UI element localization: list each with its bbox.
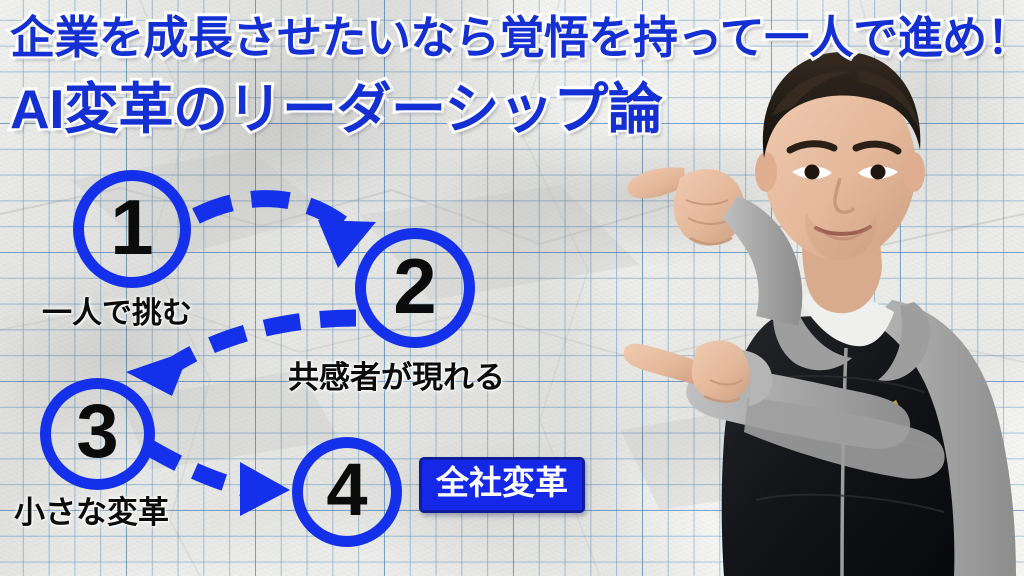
step-circle-4: 4 (292, 437, 402, 547)
step-circle-1: 1 (73, 170, 191, 288)
step-circle-3: 3 (40, 378, 155, 490)
step-label-3: 小さな変革 (14, 487, 169, 532)
badge-company-wide-transformation: 全社変革 (419, 457, 585, 513)
arrow-1-to-2 (196, 199, 376, 268)
step-circle-2: 2 (355, 228, 475, 348)
thumbnail-canvas: 企業を成長させたいなら覚悟を持って一人で進め！ AI変革のリーダーシップ論 1 … (0, 0, 1024, 576)
step-label-2: 共感者が現れる (288, 352, 505, 397)
step-number-3: 3 (76, 394, 118, 470)
step-number-2: 2 (393, 247, 436, 325)
step-number-4: 4 (326, 453, 367, 527)
arrow-3-to-4 (150, 448, 290, 516)
step-label-1: 一人で挑む (42, 288, 192, 332)
step-number-1: 1 (110, 188, 153, 266)
